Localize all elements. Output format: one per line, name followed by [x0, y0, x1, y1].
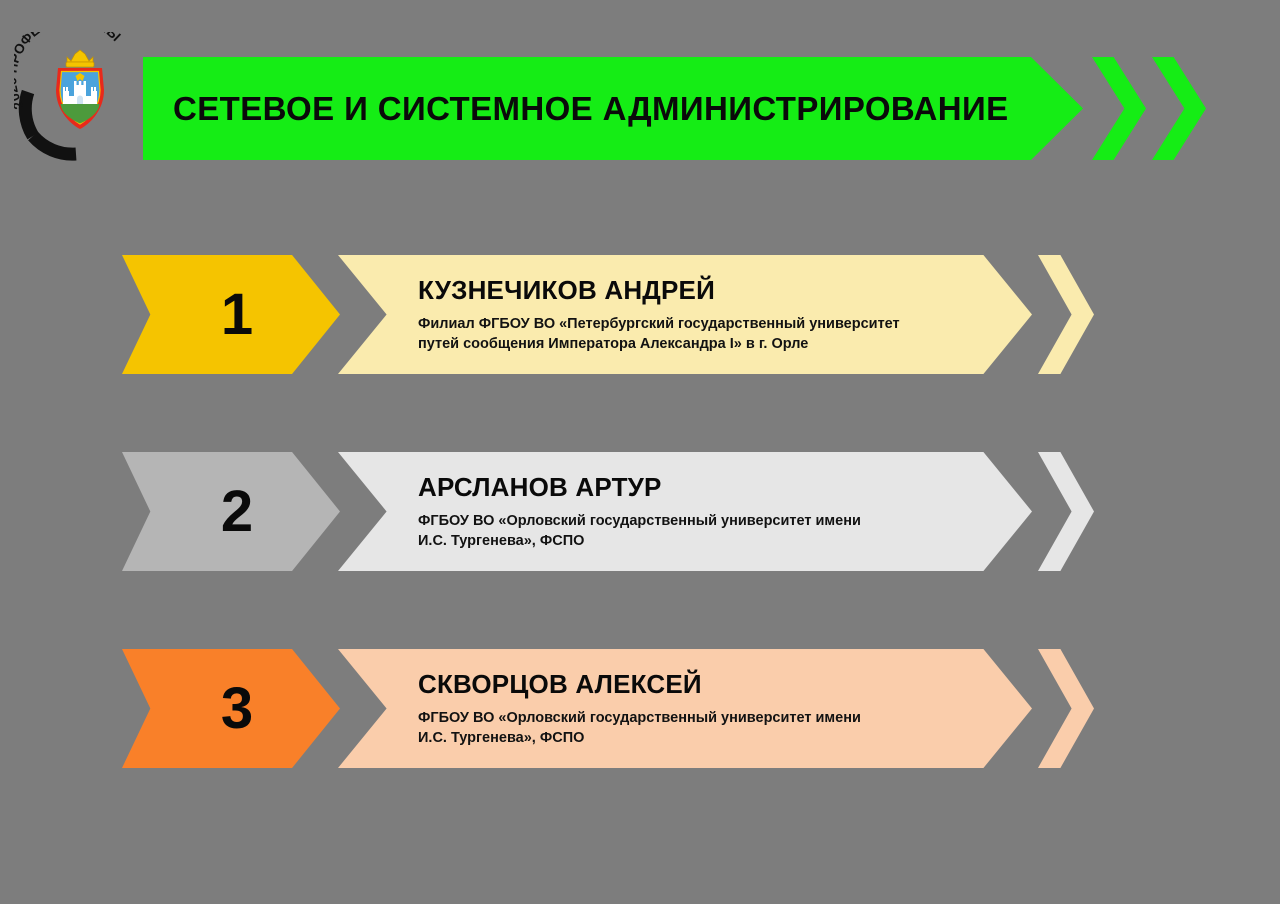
participant-institution: ФГБОУ ВО «Орловский государственный унив… — [418, 709, 972, 747]
ranking-row: 3 СКВОРЦОВ АЛЕКСЕЙ ФГБОУ ВО «Орловский г… — [0, 649, 1280, 771]
row-chevron-icon — [1038, 649, 1094, 768]
page-title: СЕТЕВОЕ И СИСТЕМНОЕ АДМИНИСТРИРОВАНИЕ — [173, 90, 1009, 128]
row-chevron-icon — [1038, 452, 1094, 571]
header-chevron-icon-2 — [1152, 57, 1206, 160]
rank-number: 2 — [221, 483, 253, 541]
rank-badge: 3 — [122, 649, 340, 768]
rank-number: 3 — [221, 680, 253, 738]
participant-institution: ФГБОУ ВО «Орловский государственный унив… — [418, 512, 972, 550]
header-banner: СЕТЕВОЕ И СИСТЕМНОЕ АДМИНИСТРИРОВАНИЕ — [143, 57, 1083, 160]
participant-info-panel: АРСЛАНОВ АРТУР ФГБОУ ВО «Орловский госуд… — [338, 452, 1032, 571]
ranking-row: 2 АРСЛАНОВ АРТУР ФГБОУ ВО «Орловский гос… — [0, 452, 1280, 574]
participant-name: АРСЛАНОВ АРТУР — [418, 472, 972, 503]
row-chevron-icon — [1038, 255, 1094, 374]
ranking-row: 1 КУЗНЕЧИКОВ АНДРЕЙ Филиал ФГБОУ ВО «Пет… — [0, 255, 1280, 377]
participant-name: СКВОРЦОВ АЛЕКСЕЙ — [418, 669, 972, 700]
rank-number: 1 — [221, 286, 253, 344]
header-chevron-icon-1 — [1092, 57, 1146, 160]
participant-info-panel: КУЗНЕЧИКОВ АНДРЕЙ Филиал ФГБОУ ВО «Петер… — [338, 255, 1032, 374]
participant-info-panel: СКВОРЦОВ АЛЕКСЕЙ ФГБОУ ВО «Орловский гос… — [338, 649, 1032, 768]
slide-canvas: 2026 ПРОФЕССИОНАЛЫ — [0, 0, 1280, 904]
participant-name: КУЗНЕЧИКОВ АНДРЕЙ — [418, 275, 972, 306]
rank-badge: 1 — [122, 255, 340, 374]
slide-header: СЕТЕВОЕ И СИСТЕМНОЕ АДМИНИСТРИРОВАНИЕ — [0, 46, 1280, 166]
participant-institution: Филиал ФГБОУ ВО «Петербургский государст… — [418, 315, 972, 353]
rank-badge: 2 — [122, 452, 340, 571]
